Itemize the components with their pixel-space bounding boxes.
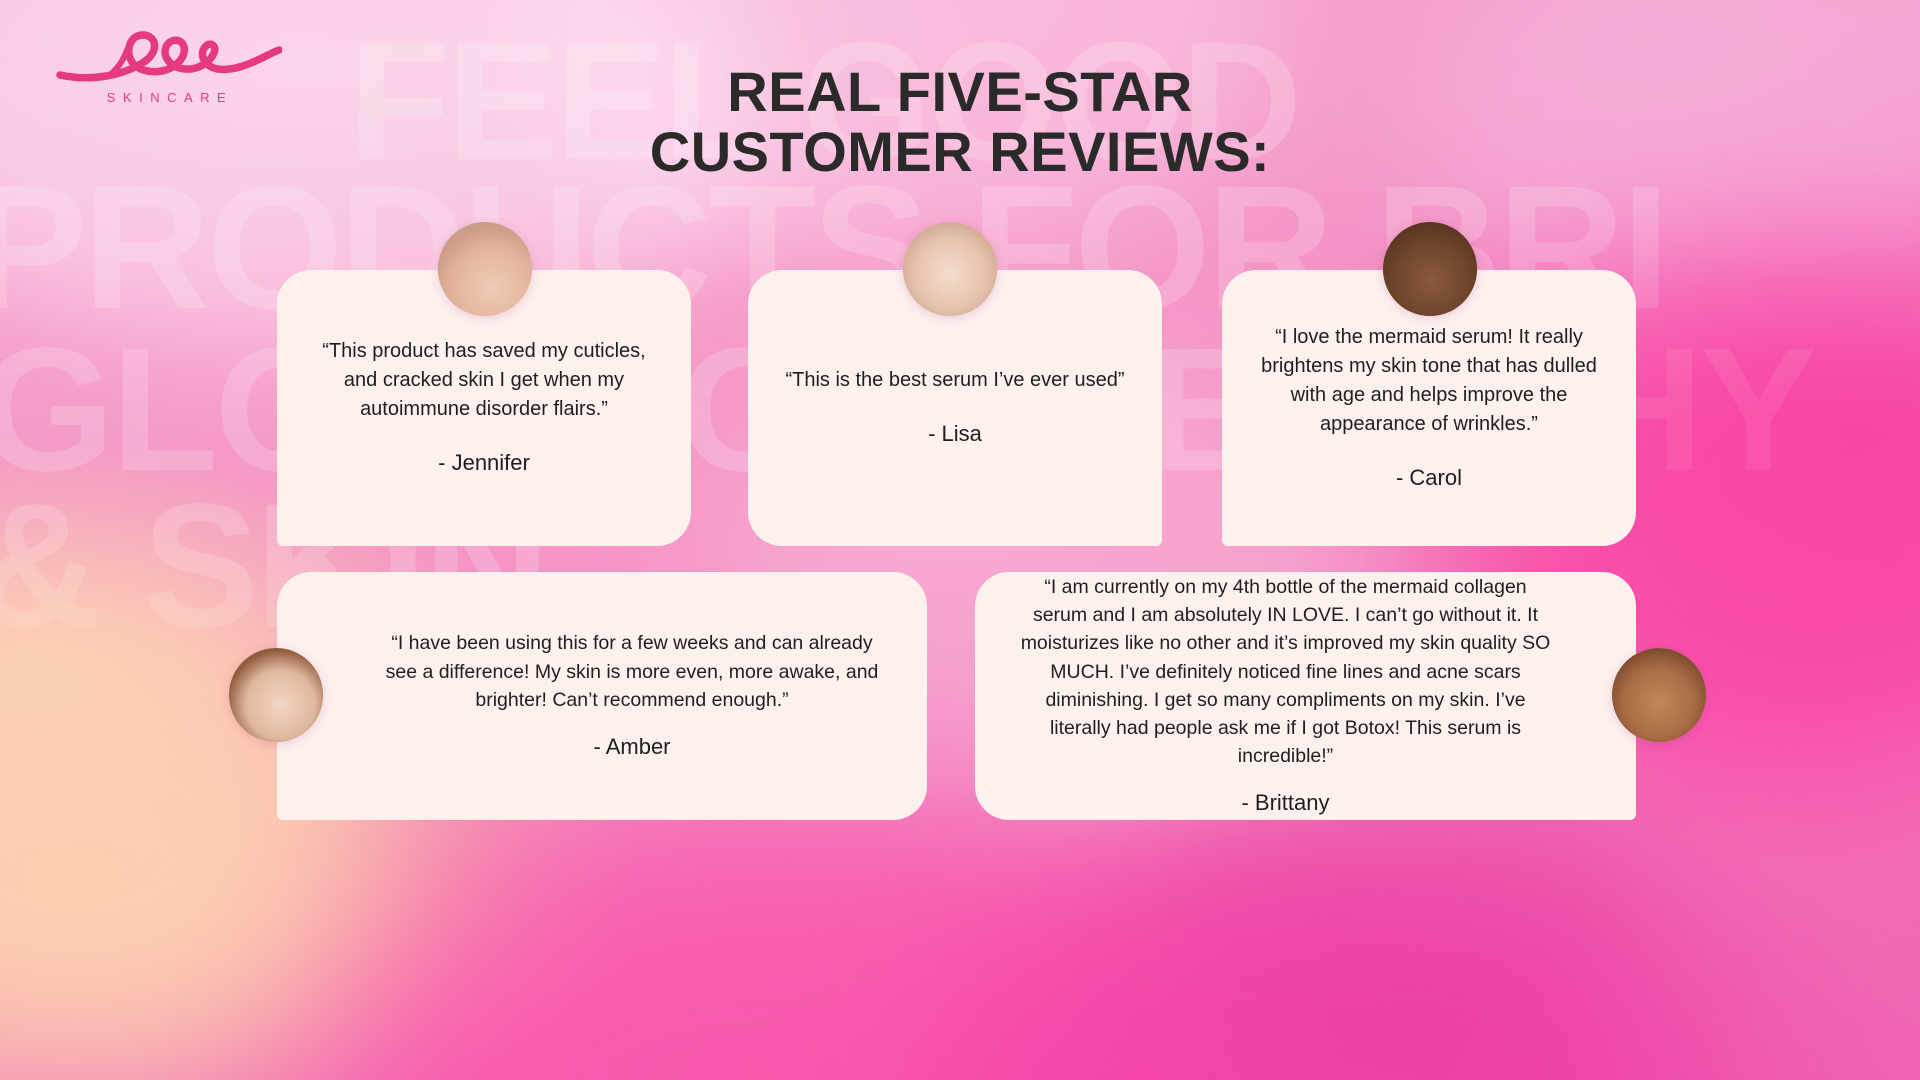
- avatar-portrait-image: [1383, 222, 1477, 316]
- avatar-brittany: [1612, 648, 1706, 742]
- testimonial-author: - Lisa: [774, 419, 1136, 450]
- testimonial-author: - Carol: [1248, 463, 1610, 494]
- testimonial-card-amber: “I have been using this for a few weeks …: [277, 572, 927, 820]
- avatar-portrait-image: [229, 648, 323, 742]
- testimonial-quote: “This product has saved my cuticles, and…: [303, 337, 665, 424]
- testimonial-quote: “This is the best serum I’ve ever used”: [774, 366, 1136, 395]
- brand-logo: SKINCARE: [52, 26, 282, 110]
- testimonial-author: - Jennifer: [303, 448, 665, 479]
- testimonial-quote: “I love the mermaid serum! It really bri…: [1248, 323, 1610, 439]
- testimonial-card-brittany: “I am currently on my 4th bottle of the …: [975, 572, 1636, 820]
- testimonial-author: - Amber: [377, 732, 887, 763]
- avatar-lisa: [903, 222, 997, 316]
- testimonial-quote: “I am currently on my 4th bottle of the …: [1015, 573, 1556, 770]
- avatar-jennifer: [438, 222, 532, 316]
- testimonial-author: - Brittany: [1015, 788, 1556, 819]
- avatar-portrait-image: [903, 222, 997, 316]
- avatar-amber: [229, 648, 323, 742]
- avatar-carol: [1383, 222, 1477, 316]
- brand-tagline: SKINCARE: [52, 90, 282, 105]
- testimonial-quote: “I have been using this for a few weeks …: [377, 629, 887, 713]
- avatar-portrait-image: [1612, 648, 1706, 742]
- brand-wordmark-script-icon: [52, 26, 282, 88]
- avatar-portrait-image: [438, 222, 532, 316]
